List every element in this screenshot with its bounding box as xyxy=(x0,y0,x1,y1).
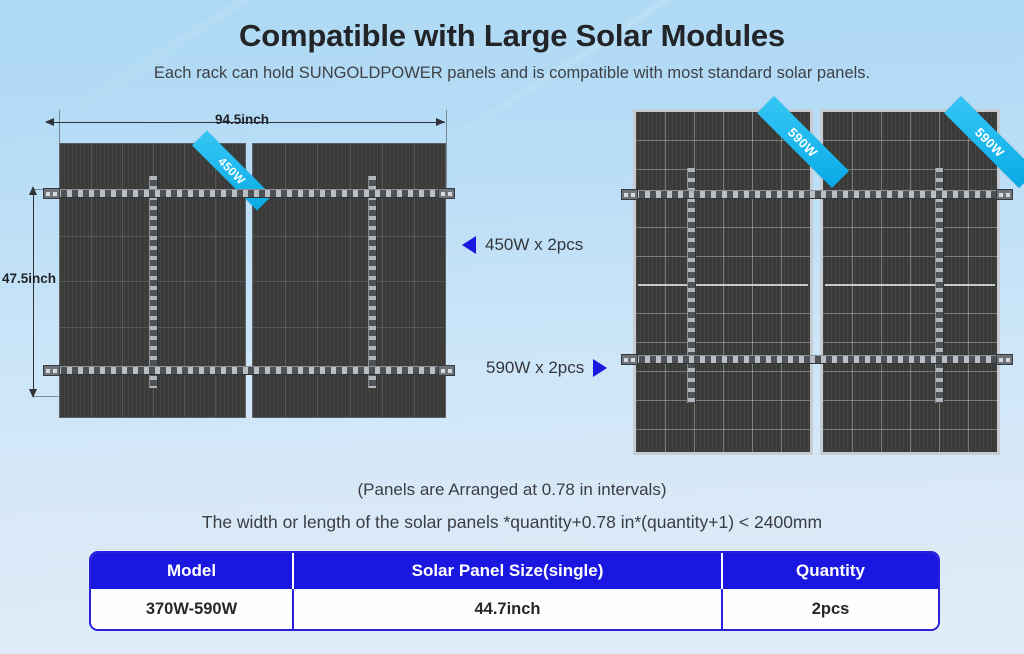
table-row: 370W-590W 44.7inch 2pcs xyxy=(91,589,938,629)
callout-450w: 450W x 2pcs xyxy=(462,235,583,255)
rail-end-cap xyxy=(621,189,638,200)
infographic-canvas: Compatible with Large Solar Modules Each… xyxy=(0,0,1024,654)
rail-end-cap xyxy=(996,354,1013,365)
note-intervals: (Panels are Arranged at 0.78 in interval… xyxy=(0,480,1024,500)
mounting-rail-bottom xyxy=(45,366,453,375)
cell-grid xyxy=(636,112,810,452)
table-header-quantity: Quantity xyxy=(723,553,938,589)
rail-end-cap xyxy=(43,188,60,199)
cell-grid xyxy=(253,144,445,417)
height-label: 47.5inch xyxy=(2,271,56,286)
triangle-left-icon xyxy=(462,236,476,254)
note-formula: The width or length of the solar panels … xyxy=(0,512,1024,533)
mounting-rail-vertical-right xyxy=(368,176,377,388)
extension-line-right xyxy=(446,110,447,190)
rail-end-cap xyxy=(438,365,455,376)
mounting-rail-top xyxy=(623,190,1010,199)
panel-busbar xyxy=(638,284,808,286)
mounting-rail-vertical-right xyxy=(935,168,944,403)
width-arrow-right xyxy=(436,118,445,126)
table-cell-size: 44.7inch xyxy=(294,589,723,629)
mounting-rail-bottom xyxy=(623,355,1010,364)
solar-panel-right-b xyxy=(820,109,1000,455)
solar-panel-right-a xyxy=(633,109,813,455)
rail-end-cap xyxy=(996,189,1013,200)
rail-end-cap xyxy=(43,365,60,376)
rail-end-cap xyxy=(438,188,455,199)
rail-end-cap xyxy=(621,354,638,365)
callout-590w-label: 590W x 2pcs xyxy=(486,358,584,378)
table-header-model: Model xyxy=(91,553,294,589)
table-cell-quantity: 2pcs xyxy=(723,589,938,629)
mounting-rail-top xyxy=(45,189,453,198)
width-arrow-left xyxy=(45,118,54,126)
table-header-size: Solar Panel Size(single) xyxy=(294,553,723,589)
table-header-row: Model Solar Panel Size(single) Quantity xyxy=(91,553,938,589)
page-title: Compatible with Large Solar Modules xyxy=(0,18,1024,54)
solar-panel-left-b xyxy=(252,143,446,418)
height-arrow-down xyxy=(29,389,37,398)
height-arrow-up xyxy=(29,186,37,195)
spec-table: Model Solar Panel Size(single) Quantity … xyxy=(89,551,940,631)
mounting-rail-vertical-left xyxy=(149,176,158,388)
cell-grid xyxy=(823,112,997,452)
page-subtitle: Each rack can hold SUNGOLDPOWER panels a… xyxy=(0,64,1024,83)
callout-590w: 590W x 2pcs xyxy=(486,358,607,378)
table-cell-model: 370W-590W xyxy=(91,589,294,629)
mounting-rail-vertical-left xyxy=(687,168,696,403)
callout-450w-label: 450W x 2pcs xyxy=(485,235,583,255)
height-dimension-line xyxy=(33,190,34,396)
width-label: 94.5inch xyxy=(215,112,269,127)
panel-busbar xyxy=(825,284,995,286)
triangle-right-icon xyxy=(593,359,607,377)
